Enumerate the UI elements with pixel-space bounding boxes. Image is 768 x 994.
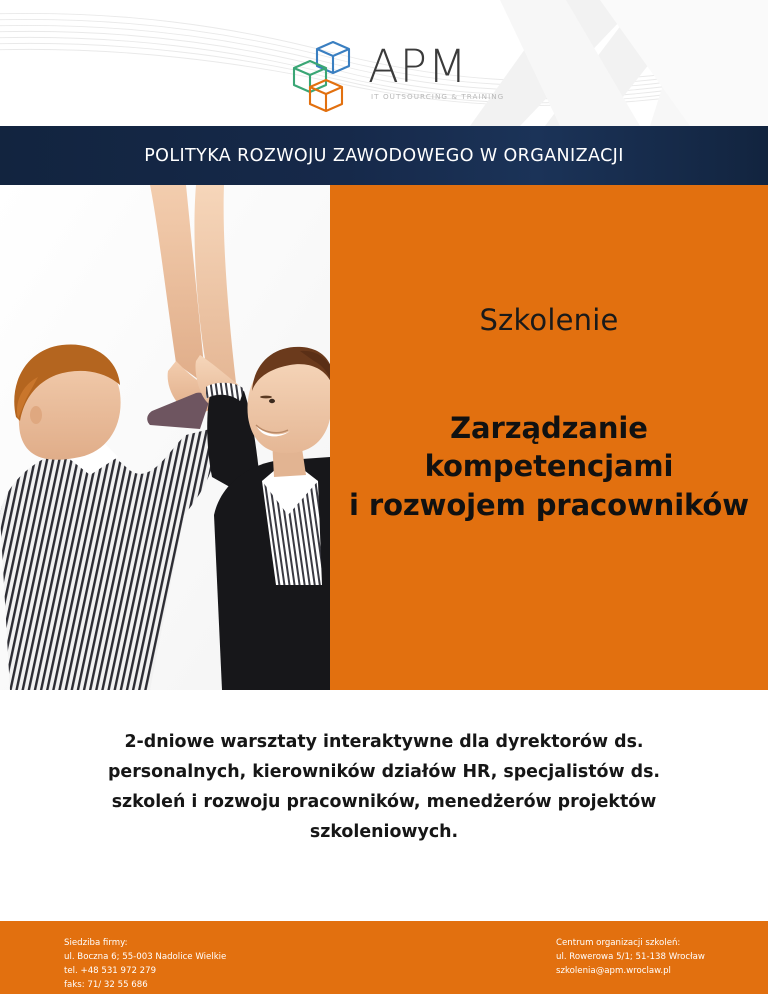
panel-title-line-2: kompetencjami xyxy=(349,447,749,485)
banner-title: POLITYKA ROZWOJU ZAWODOWEGO W ORGANIZACJ… xyxy=(144,146,624,166)
logo-tagline: IT OUTSOURCING & TRAINING xyxy=(371,92,504,101)
panel-kicker: Szkolenie xyxy=(479,303,618,337)
footer-left-phone: tel. +48 531 972 279 xyxy=(64,965,226,979)
hero-orange-panel: Szkolenie Zarządzanie kompetencjami i ro… xyxy=(330,185,768,690)
body-copy: 2-dniowe warsztaty interaktywne dla dyre… xyxy=(0,690,768,921)
footer-contact-left: Siedziba firmy: ul. Boczna 6; 55-003 Nad… xyxy=(64,937,226,993)
footer-right-address: ul. Rowerowa 5/1; 51-138 Wrocław xyxy=(556,951,705,965)
hero-section: Szkolenie Zarządzanie kompetencjami i ro… xyxy=(0,185,768,690)
flyer-page: APM IT OUTSOURCING & TRAINING POLITYKA R… xyxy=(0,0,768,994)
body-paragraph: 2-dniowe warsztaty interaktywne dla dyre… xyxy=(84,728,684,848)
footer-right-heading: Centrum organizacji szkoleń: xyxy=(556,937,705,951)
banner: POLITYKA ROZWOJU ZAWODOWEGO W ORGANIZACJ… xyxy=(0,126,768,185)
header: APM IT OUTSOURCING & TRAINING xyxy=(0,0,768,126)
cubes-icon xyxy=(286,36,364,114)
footer-left-address: ul. Boczna 6; 55-003 Nadolice Wielkie xyxy=(64,951,226,965)
footer: Siedziba firmy: ul. Boczna 6; 55-003 Nad… xyxy=(0,921,768,994)
panel-title: Zarządzanie kompetencjami i rozwojem pra… xyxy=(349,409,749,524)
logo-wordmark: APM xyxy=(368,46,504,89)
hero-photo xyxy=(0,185,330,690)
footer-contact-right: Centrum organizacji szkoleń: ul. Rowerow… xyxy=(556,937,705,979)
apm-logo: APM IT OUTSOURCING & TRAINING xyxy=(286,36,486,118)
footer-left-heading: Siedziba firmy: xyxy=(64,937,226,951)
panel-title-line-1: Zarządzanie xyxy=(349,409,749,447)
footer-right-email[interactable]: szkolenia@apm.wroclaw.pl xyxy=(556,965,705,979)
footer-left-fax: faks: 71/ 32 55 686 xyxy=(64,979,226,993)
panel-title-line-3: i rozwojem pracowników xyxy=(349,486,749,524)
